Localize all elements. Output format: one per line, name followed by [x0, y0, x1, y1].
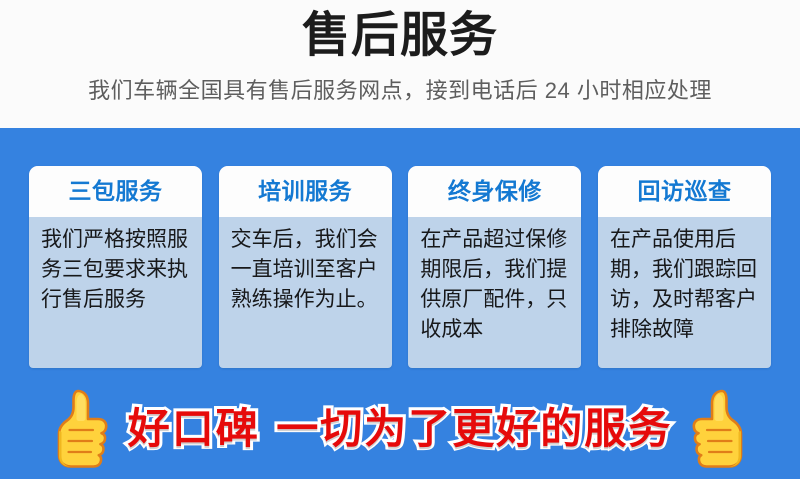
page-subtitle: 我们车辆全国具有售后服务网点，接到电话后 24 小时相应处理	[0, 64, 800, 106]
service-card-header: 终身保修	[408, 166, 581, 217]
slogan-text: 好口碑 一切为了更好的服务	[128, 405, 673, 453]
thumbs-up-icon	[690, 386, 752, 472]
service-cards-list: 三包服务 我们严格按照服务三包要求来执行售后服务 培训服务 交车后，我们会一直培…	[29, 166, 771, 368]
service-card-body: 我们严格按照服务三包要求来执行售后服务	[29, 217, 202, 368]
slogan-banner: 好口碑 一切为了更好的服务	[0, 379, 800, 479]
service-card-followup-visit[interactable]: 回访巡查 在产品使用后期，我们跟踪回访，及时帮客户排除故障	[598, 166, 771, 368]
service-card-training[interactable]: 培训服务 交车后，我们会一直培训至客户熟练操作为止。	[219, 166, 392, 368]
service-card-body: 在产品超过保修期限后，我们提供原厂配件，只收成本	[408, 217, 581, 368]
service-cards-band: 三包服务 我们严格按照服务三包要求来执行售后服务 培训服务 交车后，我们会一直培…	[0, 128, 800, 379]
service-card-lifetime-warranty[interactable]: 终身保修 在产品超过保修期限后，我们提供原厂配件，只收成本	[408, 166, 581, 368]
after-sales-service-infographic: 售后服务 我们车辆全国具有售后服务网点，接到电话后 24 小时相应处理 三包服务…	[0, 0, 800, 479]
header-section: 售后服务 我们车辆全国具有售后服务网点，接到电话后 24 小时相应处理	[0, 0, 800, 128]
slogan-banner-inner: 好口碑 一切为了更好的服务	[0, 386, 800, 472]
service-card-sanbao[interactable]: 三包服务 我们严格按照服务三包要求来执行售后服务	[29, 166, 202, 368]
service-card-title: 回访巡查	[637, 179, 731, 205]
thumbs-up-icon	[48, 386, 110, 472]
service-card-body: 交车后，我们会一直培训至客户熟练操作为止。	[219, 217, 392, 368]
service-card-body: 在产品使用后期，我们跟踪回访，及时帮客户排除故障	[598, 217, 771, 368]
service-card-title: 三包服务	[69, 179, 163, 205]
page-title: 售后服务	[0, 0, 800, 64]
service-card-header: 回访巡查	[598, 166, 771, 217]
service-card-header: 培训服务	[219, 166, 392, 217]
service-card-header: 三包服务	[29, 166, 202, 217]
service-card-title: 终身保修	[448, 179, 542, 205]
service-card-title: 培训服务	[258, 179, 352, 205]
